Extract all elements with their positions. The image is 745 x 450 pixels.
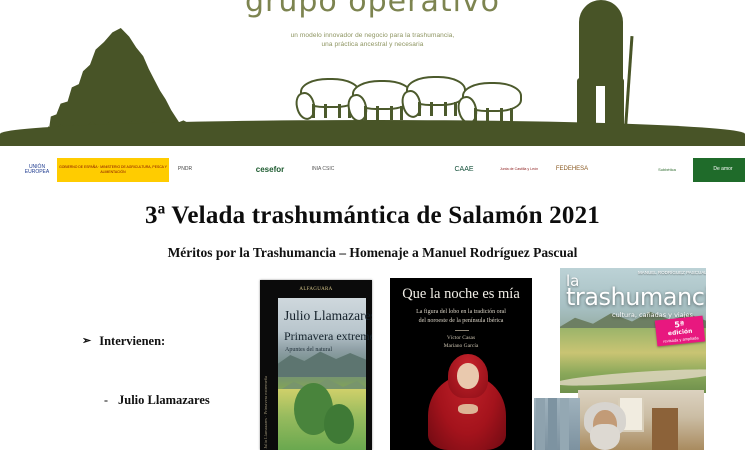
book-subtitle-line1: La figura del lobo en la tradición oral [396,308,526,317]
page-title: 3ª Velada trashumántica de Salamón 2021 [0,202,745,230]
sheep-icon [462,82,524,122]
sheep-flock-icon [300,62,550,124]
dash-bullet-icon: - [104,393,108,408]
sponsor-logo [601,158,641,182]
sponsor-logo: FEDEHESA [548,158,596,182]
page-subtitle: Méritos por la Trashumancia – Homenaje a… [0,245,745,261]
book-primavera-extremena: Julio Llamazares · Primavera extremeña A… [260,280,372,450]
sponsor-logo: Junta de Castilla y León [495,158,543,182]
video-tile-participant[interactable] [578,390,704,450]
book-la-trashumancia: MANUEL RODRÍGUEZ PASCUAL la trashumancia… [560,268,710,393]
publisher-logo: ALFAGUARA [288,283,344,296]
book-authors: Víctor Casas Mariano García [396,334,526,350]
sponsor-logo [201,158,239,182]
arrow-bullet-icon: ➢ [82,334,91,349]
sponsor-logo: GOBIERNO DE ESPAÑA · MINISTERIO DE AGRIC… [57,158,169,182]
ground-bar [0,134,745,146]
book-spine: Julio Llamazares · Primavera extremeña [260,280,278,450]
speakers-list: ➢ Intervienen: - Julio Llamazares [82,334,282,408]
shepherd-silhouette-icon [565,0,637,136]
sponsor-logo-strip: UNIÓN EUROPEA GOBIERNO DE ESPAÑA · MINIS… [22,152,724,188]
list-item: ➢ Intervienen: [82,334,282,349]
book-spine-text: Julio Llamazares · Primavera extremeña [263,376,268,449]
book-author-1: Víctor Casas [396,334,526,342]
sponsor-logo: INIA CSIC [301,158,345,182]
edition-badge: 5ª edición revisada y ampliada [655,316,705,347]
book-subtitle: La figura del lobo en la tradición oral … [396,308,526,325]
book-title: trashumancia [566,283,710,311]
header-banner: grupo operativo un modelo innovador de n… [0,0,745,146]
sponsor-logo: PNDR [174,158,196,182]
book-author-2: Mariano García [396,342,526,350]
book-author: Julio Llamazares [284,308,364,324]
book-subtitle: Apuntes del natural [285,347,332,353]
right-edge-mask [706,268,745,450]
avatar [584,402,626,450]
book-subtitle-line2: del noroeste de la península Ibérica [396,317,526,326]
sponsor-logo [350,158,392,182]
book-title: Primavera extremeña [284,329,368,344]
sponsor-logo: cesefor [244,158,296,182]
presentation-slide: grupo operativo un modelo innovador de n… [0,0,745,450]
list-item: - Julio Llamazares [82,393,282,408]
divider [455,330,469,331]
book-author: MANUEL RODRÍGUEZ PASCUAL [638,270,707,275]
book-title: Que la noche es mía [390,286,532,303]
book-que-la-noche-es-mia: Que la noche es mía La figura del lobo e… [390,278,532,450]
sponsor-logo: UNIÓN EUROPEA [22,158,52,182]
sponsor-logo: Subbética [646,158,688,182]
book-cover-artwork [428,354,506,450]
sponsor-logo: De amor [693,158,745,182]
sponsor-logo [397,158,433,182]
sponsor-logo: CAAE [438,158,490,182]
speaker-name: Julio Llamazares [118,393,210,408]
video-tile-secondary[interactable] [534,398,580,450]
speakers-heading: Intervienen: [99,334,165,349]
